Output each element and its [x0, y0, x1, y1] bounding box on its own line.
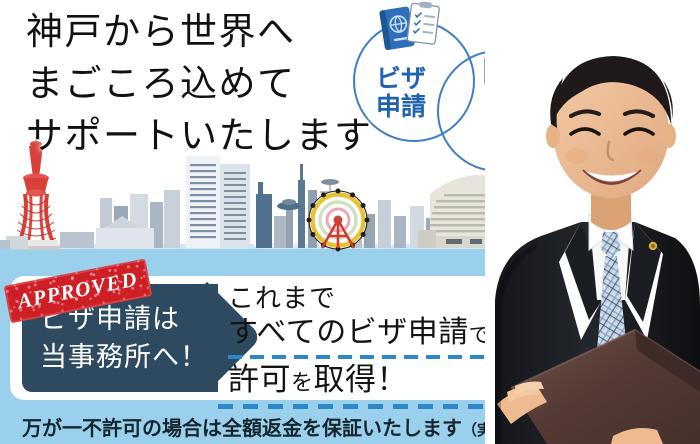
page-headline: 神戸から世界へ まごころ込めて サポートいたします	[26, 6, 373, 162]
businessman-photo	[485, 0, 700, 444]
headline-line-2: まごころ込めて	[26, 58, 373, 110]
badge-label-visa: ビザ 申請	[376, 65, 426, 121]
promise-text-block: これまで すべてのビザ申請で 許可を取得！	[228, 282, 490, 403]
arrow-line-2: 当事務所へ！	[40, 338, 208, 376]
headline-line-3: サポートいたします	[26, 110, 373, 162]
promise-line-1: これまで	[228, 282, 490, 314]
promise-line-2: すべてのビザ申請で	[228, 314, 490, 358]
headline-line-1: 神戸から世界へ	[26, 6, 373, 58]
dashed-divider	[218, 404, 498, 409]
promise-line-3: 許可を取得！	[228, 360, 490, 403]
visa-service-banner: 神戸から世界へ まごころ込めて サポートいたします ビザ 申請 在留 資格	[0, 0, 700, 444]
passport-clipboard-icon	[379, 2, 445, 54]
